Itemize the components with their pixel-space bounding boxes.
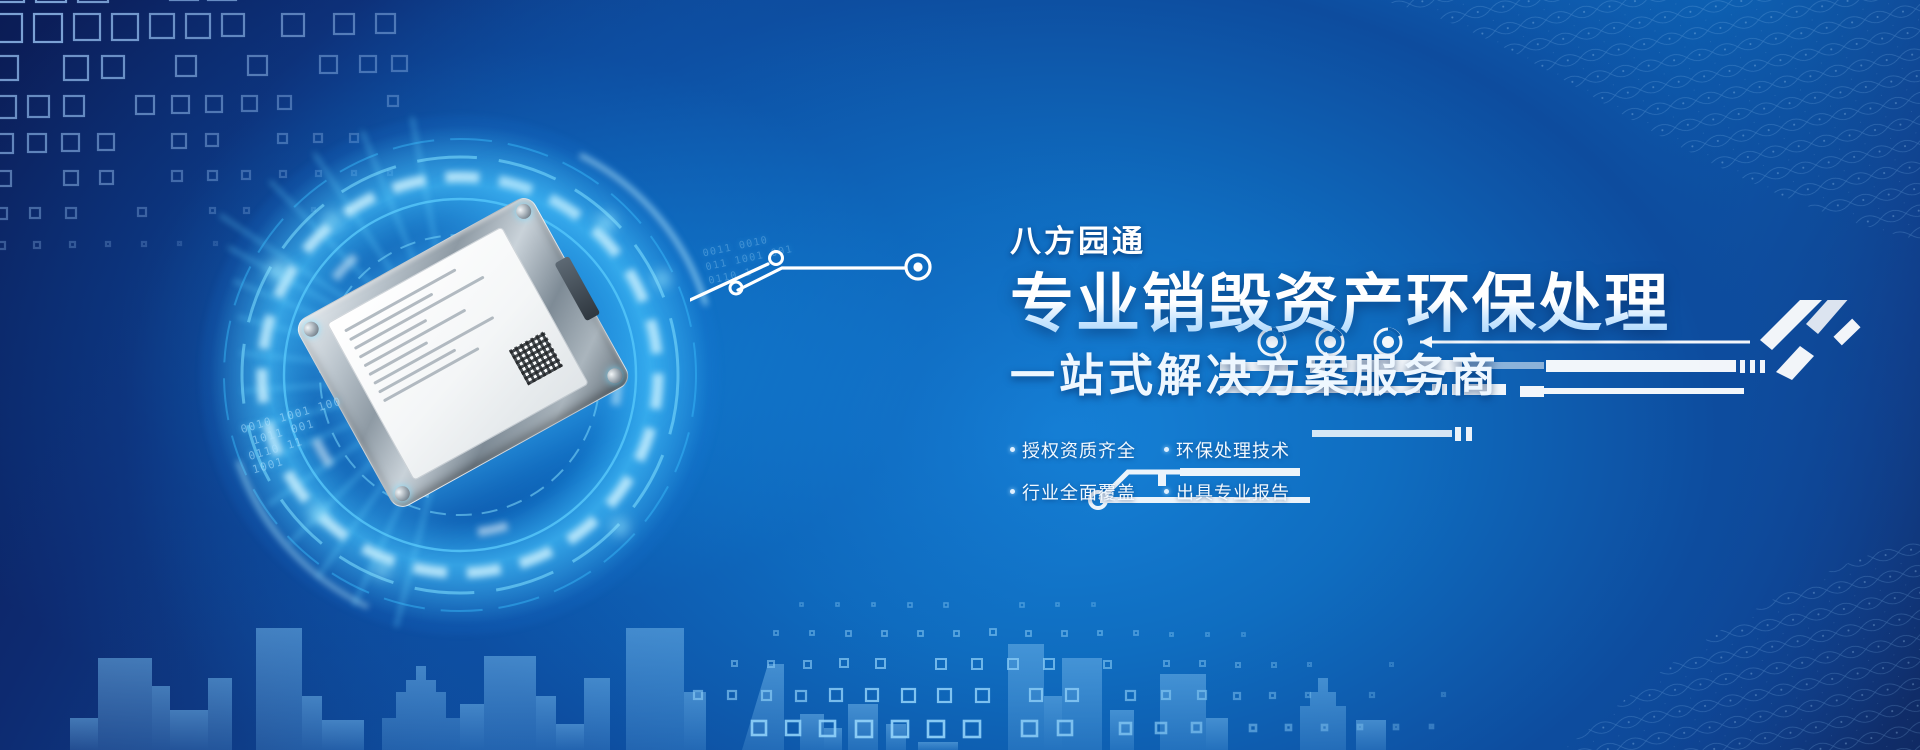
feature-row: 行业全面覆盖 出具专业报告 — [1010, 479, 1340, 505]
page-title: 专业销毁资产环保处理 — [1010, 269, 1770, 341]
feature-item: 授权资质齐全 — [1010, 437, 1138, 463]
page-subtitle: 一站式解决方案服务商 — [1010, 349, 1770, 403]
feature-list: 授权资质齐全 环保处理技术 行业全面覆盖 出具专业报告 — [1010, 437, 1340, 505]
bullet-dot-icon — [1164, 447, 1169, 452]
hdd-tech-ring-graphic — [150, 95, 770, 655]
feature-item: 环保处理技术 — [1164, 437, 1292, 463]
bullet-dot-icon — [1010, 447, 1015, 452]
feature-label: 行业全面覆盖 — [1022, 479, 1136, 505]
bullet-dot-icon — [1010, 489, 1015, 494]
bullet-dot-icon — [1164, 489, 1169, 494]
feature-row: 授权资质齐全 环保处理技术 — [1010, 437, 1340, 463]
feature-item: 出具专业报告 — [1164, 479, 1292, 505]
connector-line-with-nodes — [690, 200, 1020, 310]
hero-copy-block: 八方园通 专业销毁资产环保处理 一站式解决方案服务商 授权资质齐全 环保处理技术… — [1010, 225, 1770, 521]
feature-label: 出具专业报告 — [1176, 479, 1290, 505]
square-grid-pattern-bottom — [690, 585, 1690, 750]
brand-name: 八方园通 — [1010, 225, 1770, 259]
hdd-qr-code — [509, 331, 563, 385]
feature-item: 行业全面覆盖 — [1010, 479, 1138, 505]
feature-label: 授权资质齐全 — [1022, 437, 1136, 463]
hero-banner: 0010 1001 100 1011 001 0110 11 1001 0011… — [0, 0, 1920, 750]
feature-label: 环保处理技术 — [1176, 437, 1290, 463]
